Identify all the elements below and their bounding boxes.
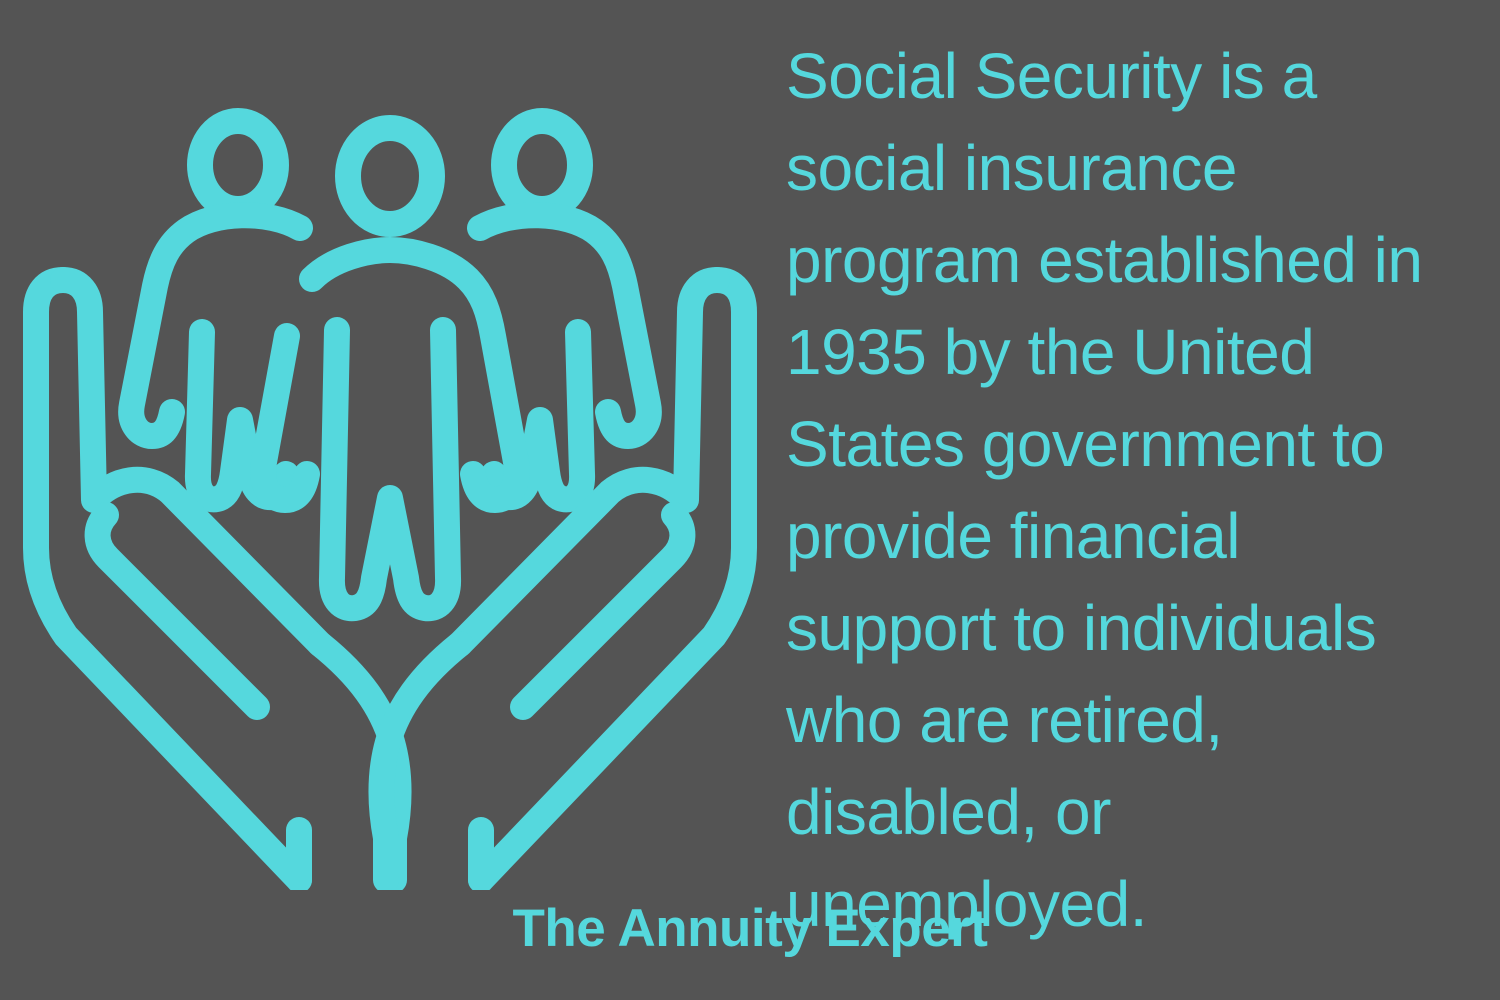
description-line: disabled, or (786, 766, 1486, 858)
person-center-body-outline (263, 250, 517, 500)
person-center-legs (332, 330, 448, 608)
description-text-block: Social Security is a social insurance pr… (786, 30, 1486, 950)
description-line: States government to (786, 398, 1486, 490)
description-line: 1935 by the United (786, 306, 1486, 398)
person-center-figure (263, 128, 517, 608)
description-line: who are retired, (786, 674, 1486, 766)
right-hand-inner-edge (381, 644, 460, 880)
brand-wordmark: The Annuity Expert (0, 898, 1500, 959)
hands-holding-people-illustration (0, 0, 780, 890)
description-line: Social Security is a (786, 30, 1486, 122)
hands-holding-people-icon (0, 0, 780, 890)
person-right-head-icon (504, 121, 580, 209)
description-line: social insurance (786, 122, 1486, 214)
person-left-head-icon (200, 121, 276, 209)
infographic-canvas: Social Security is a social insurance pr… (0, 0, 1500, 1000)
description-line: provide financial (786, 490, 1486, 582)
person-center-head-icon (348, 128, 432, 224)
description-line: support to individuals (786, 582, 1486, 674)
description-line: program established in (786, 214, 1486, 306)
